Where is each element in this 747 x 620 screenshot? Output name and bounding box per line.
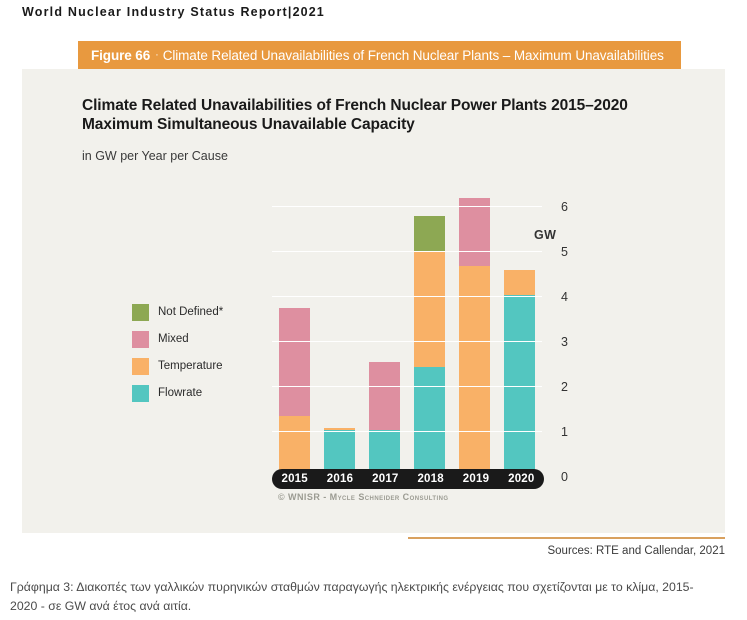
y-tick-label-6: 6 <box>542 200 568 214</box>
bar-2019[interactable] <box>459 198 490 477</box>
bar-segment-2018-flowrate[interactable] <box>414 367 445 477</box>
figure-number: Figure 66 <box>91 48 150 63</box>
y-tick-label-4: 4 <box>542 290 568 304</box>
legend-item-label: Temperature <box>158 360 223 372</box>
figure-body: Climate Related Unavailabilities of Fren… <box>22 69 725 533</box>
y-tick-label-1: 1 <box>542 425 568 439</box>
bar-2020[interactable] <box>504 270 535 477</box>
figure-caption: Γράφημα 3: Διακοπές των γαλλικών πυρηνικ… <box>10 578 700 616</box>
legend-swatch-icon <box>132 385 149 402</box>
x-axis: 201520162017201820192020 <box>272 469 544 489</box>
legend-swatch-icon <box>132 304 149 321</box>
figure-title: Climate Related Unavailabilities of Fren… <box>163 48 664 63</box>
chart-subtitle: in GW per Year per Cause <box>82 149 228 163</box>
y-tick-label-5: 5 <box>542 245 568 259</box>
bar-segment-2017-mixed[interactable] <box>369 362 400 430</box>
figure-banner: Figure 66 · Climate Related Unavailabili… <box>78 41 681 69</box>
legend-item-not-defined-[interactable]: Not Defined* <box>132 301 223 323</box>
legend-swatch-icon <box>132 331 149 348</box>
x-axis-label-2019: 2019 <box>453 469 498 489</box>
x-axis-label-2016: 2016 <box>317 469 362 489</box>
legend-item-label: Mixed <box>158 333 189 345</box>
legend-item-flowrate[interactable]: Flowrate <box>132 382 223 404</box>
bar-segment-2018-not-defined-[interactable] <box>414 216 445 252</box>
figure-separator: · <box>155 49 159 61</box>
legend-item-label: Flowrate <box>158 387 202 399</box>
bar-2018[interactable] <box>414 216 445 477</box>
legend-swatch-icon <box>132 358 149 375</box>
y-tick-label-2: 2 <box>542 380 568 394</box>
running-header-year: 2021 <box>293 5 325 19</box>
bar-group <box>272 189 542 477</box>
x-axis-label-2020: 2020 <box>499 469 544 489</box>
bar-2015[interactable] <box>279 308 310 477</box>
running-header-title: World Nuclear Industry Status Report <box>22 5 288 19</box>
bar-segment-2015-mixed[interactable] <box>279 308 310 416</box>
chart-title: Climate Related Unavailabilities of Fren… <box>82 96 642 134</box>
legend-item-label: Not Defined* <box>158 306 223 318</box>
bar-2017[interactable] <box>369 362 400 477</box>
plot-area <box>272 189 542 477</box>
bar-segment-2018-temperature[interactable] <box>414 252 445 367</box>
x-axis-label-2017: 2017 <box>363 469 408 489</box>
bar-segment-2015-temperature[interactable] <box>279 416 310 477</box>
running-header: World Nuclear Industry Status Report|202… <box>22 5 325 19</box>
bar-segment-2019-mixed[interactable] <box>459 198 490 266</box>
bar-segment-2020-flowrate[interactable] <box>504 295 535 477</box>
legend-item-mixed[interactable]: Mixed <box>132 328 223 350</box>
sources-rule <box>408 537 725 539</box>
chart-legend: Not Defined*MixedTemperatureFlowrate <box>132 301 223 409</box>
legend-item-temperature[interactable]: Temperature <box>132 355 223 377</box>
bar-segment-2019-temperature[interactable] <box>459 266 490 471</box>
chart-credit: © WNISR - Mycle Schneider Consulting <box>278 492 449 502</box>
y-axis: 0123456 <box>542 189 576 477</box>
bar-segment-2020-temperature[interactable] <box>504 270 535 295</box>
sources-note: Sources: RTE and Callendar, 2021 <box>547 545 725 557</box>
x-axis-label-2018: 2018 <box>408 469 453 489</box>
x-axis-label-2015: 2015 <box>272 469 317 489</box>
y-tick-label-0: 0 <box>542 470 568 484</box>
y-tick-label-3: 3 <box>542 335 568 349</box>
